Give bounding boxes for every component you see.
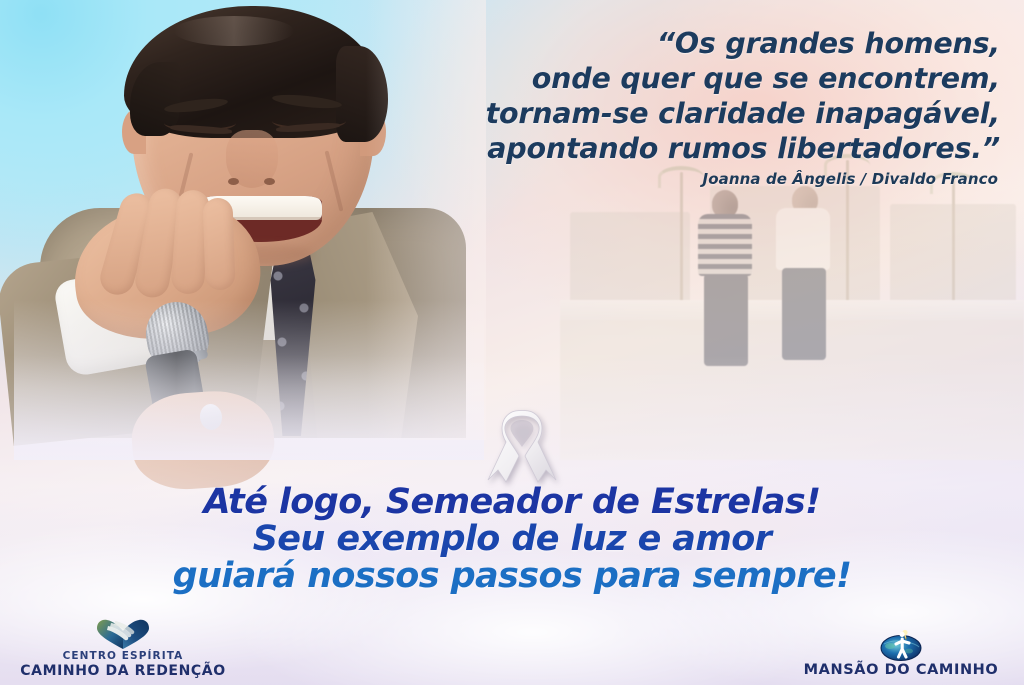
logo-mansao-do-caminho: MANSÃO DO CAMINHO	[786, 628, 1016, 679]
logo-left-line-1: CENTRO ESPÍRITA	[8, 650, 238, 663]
headline-line-2: Seu exemplo de luz e amor	[0, 521, 1024, 558]
quote-line-1: “Os grandes homens,	[360, 26, 1000, 61]
heart-hands-icon	[8, 616, 238, 650]
quote-line-2: onde quer que se encontrem,	[360, 61, 1000, 96]
quote-text: “Os grandes homens, onde quer que se enc…	[360, 26, 1000, 166]
globe-figure-icon	[786, 628, 1016, 662]
logo-left-line-2: CAMINHO DA REDENÇÃO	[8, 663, 238, 679]
headline-line-3: guiará nossos passos para sempre!	[0, 558, 1024, 595]
white-ribbon-icon	[482, 408, 562, 486]
quote-line-3: tornam-se claridade inapagável,	[360, 96, 1000, 131]
logo-centro-espirita: CENTRO ESPÍRITA CAMINHO DA REDENÇÃO	[8, 616, 238, 679]
memorial-poster: “Os grandes homens, onde quer que se enc…	[0, 0, 1024, 685]
quote-line-4: apontando rumos libertadores.”	[360, 131, 1000, 166]
headline: Até logo, Semeador de Estrelas! Seu exem…	[0, 484, 1024, 595]
headline-line-1: Até logo, Semeador de Estrelas!	[0, 484, 1024, 521]
quote-attribution: Joanna de Ângelis / Divaldo Franco	[358, 170, 998, 188]
logo-right-line-1: MANSÃO DO CAMINHO	[786, 662, 1016, 679]
